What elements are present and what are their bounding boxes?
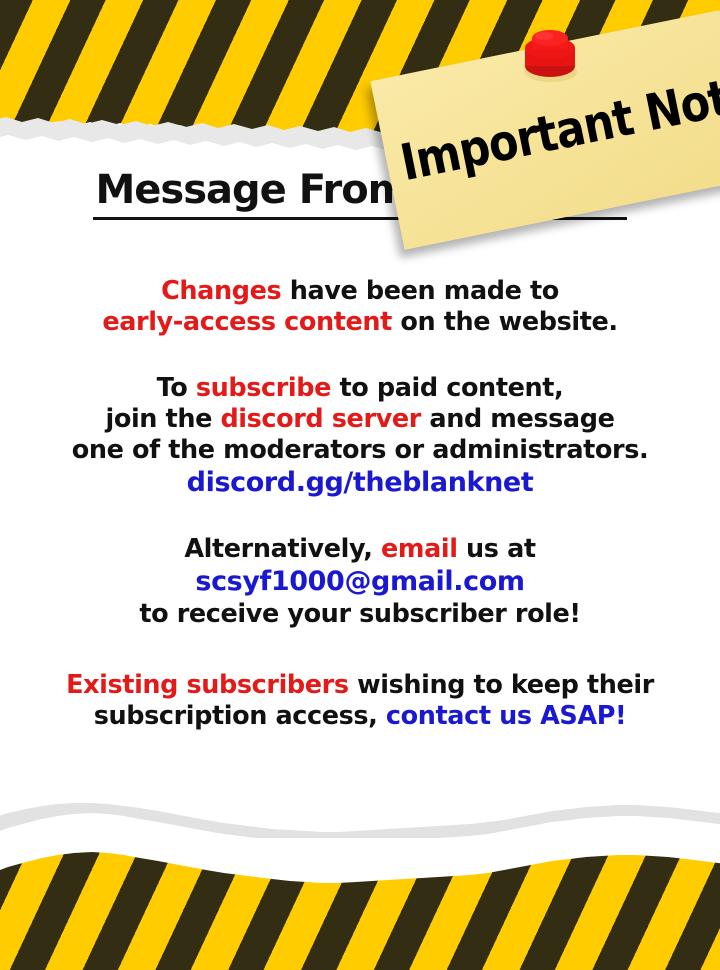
text-line: to receive your subscriber role! [30, 599, 690, 630]
text-line: Changes have been made to [30, 276, 690, 307]
text-run: To [157, 373, 196, 403]
paragraph-subscribe: To subscribe to paid content, join the d… [30, 373, 690, 499]
sticky-note-label: Important Notice [396, 77, 694, 192]
paragraph-changes: Changes have been made to early-access c… [30, 276, 690, 338]
text-line: Existing subscribers wishing to keep the… [30, 670, 690, 701]
text-run: subscription access, [94, 701, 386, 731]
email-address-label: scsyf1000@gmail.com [195, 566, 524, 597]
text-run: us at [458, 534, 536, 564]
text-run: to receive your subscriber role! [139, 599, 580, 629]
hazard-stripe-band-bottom [0, 840, 720, 970]
changes-keyword: Changes [161, 276, 281, 306]
text-line: subscription access, contact us ASAP! [30, 701, 690, 732]
text-line: one of the moderators or administrators. [30, 435, 690, 466]
discord-invite-link[interactable]: discord.gg/theblanknet [30, 467, 690, 500]
contact-us-asap-callout: contact us ASAP! [386, 701, 626, 731]
text-run: wishing to keep their [349, 670, 654, 700]
text-run: have been made to [281, 276, 559, 306]
text-run: and message [421, 404, 615, 434]
text-line: early-access content on the website. [30, 307, 690, 338]
paragraph-email: Alternatively, email us at scsyf1000@gma… [30, 534, 690, 629]
text-run: join the [106, 404, 221, 434]
text-line: join the discord server and message [30, 404, 690, 435]
torn-edge-bottom-mask [0, 838, 720, 890]
notice-content: Message From THE BLANK Changes have been… [0, 168, 720, 732]
page-title-prefix: Message From [95, 167, 421, 213]
text-line: To subscribe to paid content, [30, 373, 690, 404]
existing-subscribers-keyword: Existing subscribers [66, 670, 349, 700]
text-line: Alternatively, email us at [30, 534, 690, 565]
email-keyword: email [381, 534, 458, 564]
early-access-keyword: early-access content [102, 307, 392, 337]
text-run: on the website. [392, 307, 618, 337]
discord-server-keyword: discord server [220, 404, 420, 434]
discord-invite-link-label: discord.gg/theblanknet [187, 467, 534, 498]
text-run: one of the moderators or administrators. [72, 435, 649, 465]
paragraph-existing-subscribers: Existing subscribers wishing to keep the… [30, 670, 690, 732]
pushpin-icon [518, 26, 582, 84]
text-run: to paid content, [331, 373, 563, 403]
notice-poster: Important Notice Message From THE BLANK … [0, 0, 720, 970]
email-address-link[interactable]: scsyf1000@gmail.com [30, 566, 690, 599]
text-run: Alternatively, [184, 534, 381, 564]
subscribe-keyword: subscribe [196, 373, 331, 403]
